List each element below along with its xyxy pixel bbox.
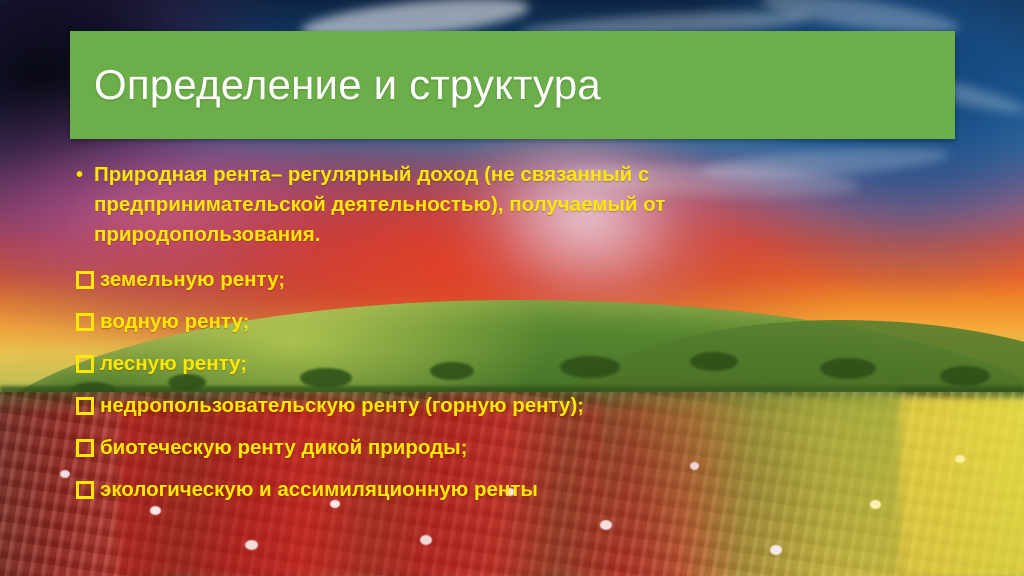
page-title: Определение и структура — [70, 61, 601, 109]
square-bullet-icon — [76, 397, 94, 415]
list-item-label: экологическую и ассимиляционную ренты — [100, 475, 956, 505]
list-item-label: земельную ренту; — [100, 265, 956, 295]
round-bullet-icon: • — [76, 160, 94, 190]
flower-speck — [420, 535, 432, 545]
square-bullet-icon — [76, 355, 94, 373]
square-bullet-icon — [76, 313, 94, 331]
list-item-label: недропользовательскую ренту (горную рент… — [100, 391, 956, 421]
square-bullet-icon — [76, 439, 94, 457]
definition-paragraph: • Природная рента– регулярный доход (не … — [76, 160, 956, 250]
list-item: лесную ренту; — [76, 343, 956, 385]
square-bullet-icon — [76, 481, 94, 499]
presentation-slide: Определение и структура • Природная рент… — [0, 0, 1024, 576]
list-item: земельную ренту; — [76, 259, 956, 301]
slide-content: • Природная рента– регулярный доход (не … — [76, 160, 956, 511]
flower-speck — [600, 520, 612, 530]
flower-speck — [245, 540, 258, 550]
list-item: водную ренту; — [76, 301, 956, 343]
definition-text: Природная рента– регулярный доход (не св… — [94, 160, 794, 250]
title-banner: Определение и структура — [70, 31, 955, 139]
rent-types-list: земельную ренту; водную ренту; лесную ре… — [76, 259, 956, 511]
list-item-label: водную ренту; — [100, 307, 956, 337]
list-item: недропользовательскую ренту (горную рент… — [76, 385, 956, 427]
flower-speck — [955, 455, 965, 463]
square-bullet-icon — [76, 271, 94, 289]
list-item: экологическую и ассимиляционную ренты — [76, 469, 956, 511]
list-item: биотеческую ренту дикой природы; — [76, 427, 956, 469]
flower-speck — [60, 470, 70, 478]
flower-speck — [770, 545, 782, 555]
list-item-label: биотеческую ренту дикой природы; — [100, 433, 956, 463]
list-item-label: лесную ренту; — [100, 349, 956, 379]
